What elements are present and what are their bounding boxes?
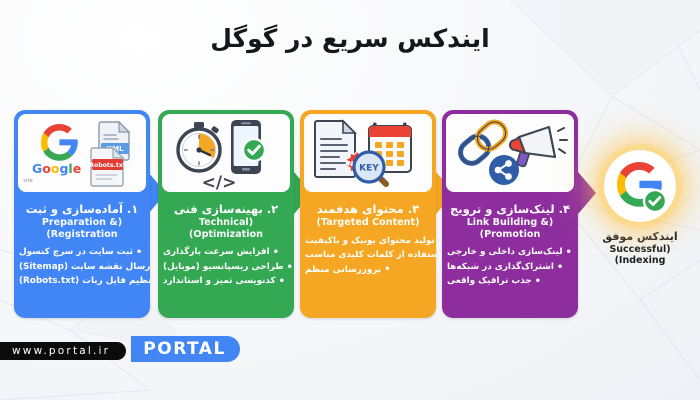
bullet-item: لینک‌سازی داخلی و خارجی	[447, 247, 572, 258]
bullet-item: بروزرسانی منظم	[305, 265, 391, 276]
step-preparation-icon-group: Google Search Console XML	[18, 114, 146, 192]
share-icon	[489, 155, 519, 185]
bullet-item: افزایش سرعت بارگذاری	[163, 247, 279, 258]
bullet-item: ثبت سایت در سرچ کنسول	[19, 247, 142, 258]
step-content-body: ۳. محتوای هدفمند (Targeted Content) تولی…	[300, 196, 436, 318]
bullet-item: کدنویسی تمیز و استاندارد	[163, 276, 285, 287]
step-content-icon-group: NEW	[304, 114, 432, 192]
svg-text:Robots.txt: Robots.txt	[89, 162, 126, 169]
step-bullet-list: ثبت سایت در سرچ کنسول ارسال نقشه سایت (S…	[19, 247, 145, 287]
step-subtitle: (Technical Optimization)	[163, 217, 289, 240]
svg-text:Search Console: Search Console	[23, 178, 33, 184]
step-title: ۳. محتوای هدفمند	[317, 202, 419, 216]
step-title: ۲. بهینه‌سازی فنی	[174, 202, 278, 216]
page-title: ایندکس سریع در گوگل	[0, 24, 700, 53]
step-card-content[interactable]: NEW	[300, 110, 436, 318]
final-sublabel: (Successful Indexing)	[586, 244, 694, 266]
brand-name: PORTAL	[131, 336, 240, 362]
step-bullet-list: تولید محتوای یونیک و باکیفیت استفاده از …	[305, 236, 431, 276]
keyword-magnifier-icon: KEY	[354, 152, 386, 184]
step-title: ۱. آماده‌سازی و ثبت	[26, 202, 139, 216]
final-outcome: ایندکس موفق (Successful Indexing)	[586, 150, 694, 270]
check-badge-icon	[644, 190, 666, 212]
step-technical-body: ۲. بهینه‌سازی فنی (Technical Optimizatio…	[158, 196, 294, 318]
bullet-item: ارسال نقشه سایت (Sitemap)	[19, 262, 150, 273]
infographic-canvas: ایندکس سریع در گوگل	[0, 0, 700, 400]
step-linkbuilding-body: ۴. لینک‌سازی و ترویج (Link Building & Pr…	[442, 196, 578, 318]
google-g-icon	[41, 124, 78, 161]
step-subtitle: (Preparation & Registration)	[19, 217, 145, 240]
megaphone-icon	[510, 127, 567, 167]
step-card-preparation[interactable]: Google Search Console XML	[14, 110, 150, 318]
code-brackets-icon: </>	[202, 173, 237, 190]
step-preparation-body: ۱. آماده‌سازی و ثبت (Preparation & Regis…	[14, 196, 150, 318]
step-subtitle: (Targeted Content)	[317, 217, 420, 229]
mobile-check-icon	[231, 120, 265, 174]
step-bullet-list: افزایش سرعت بارگذاری طراحی ریسپانسیو (مو…	[163, 247, 289, 287]
bullet-item: طراحی ریسپانسیو (موبایل)	[163, 262, 293, 273]
step-card-technical[interactable]: </> ۲. بهینه‌سازی فنی (Technical Optimiz…	[158, 110, 294, 318]
brand-watermark: PORTAL www.portal.ir	[0, 336, 240, 362]
bullet-item: اشتراک‌گذاری در شبکه‌ها	[447, 262, 563, 273]
step-linkbuilding-icon-group	[446, 114, 574, 192]
step-technical-icon-group: </>	[162, 114, 290, 192]
step-title: ۴. لینک‌سازی و ترویج	[450, 202, 570, 216]
brand-url[interactable]: www.portal.ir	[0, 342, 126, 360]
bullet-item: تولید محتوای یونیک و باکیفیت	[305, 236, 436, 247]
google-success-icon	[604, 150, 676, 222]
step-subtitle: (Link Building & Promotion)	[447, 217, 573, 240]
stopwatch-icon	[178, 122, 220, 171]
final-label: ایندکس موفق	[586, 230, 694, 243]
bullet-item: جذب ترافیک واقعی	[447, 276, 541, 287]
step-card-linkbuilding[interactable]: ۴. لینک‌سازی و ترویج (Link Building & Pr…	[442, 110, 578, 318]
bullet-item: استفاده از کلمات کلیدی مناسب	[305, 250, 436, 261]
bullet-item: تنظیم فایل ربات (Robots.txt)	[19, 276, 150, 287]
step-bullet-list: لینک‌سازی داخلی و خارجی اشتراک‌گذاری در …	[447, 247, 573, 287]
svg-text:Google: Google	[32, 161, 81, 176]
svg-text:KEY: KEY	[359, 164, 379, 174]
